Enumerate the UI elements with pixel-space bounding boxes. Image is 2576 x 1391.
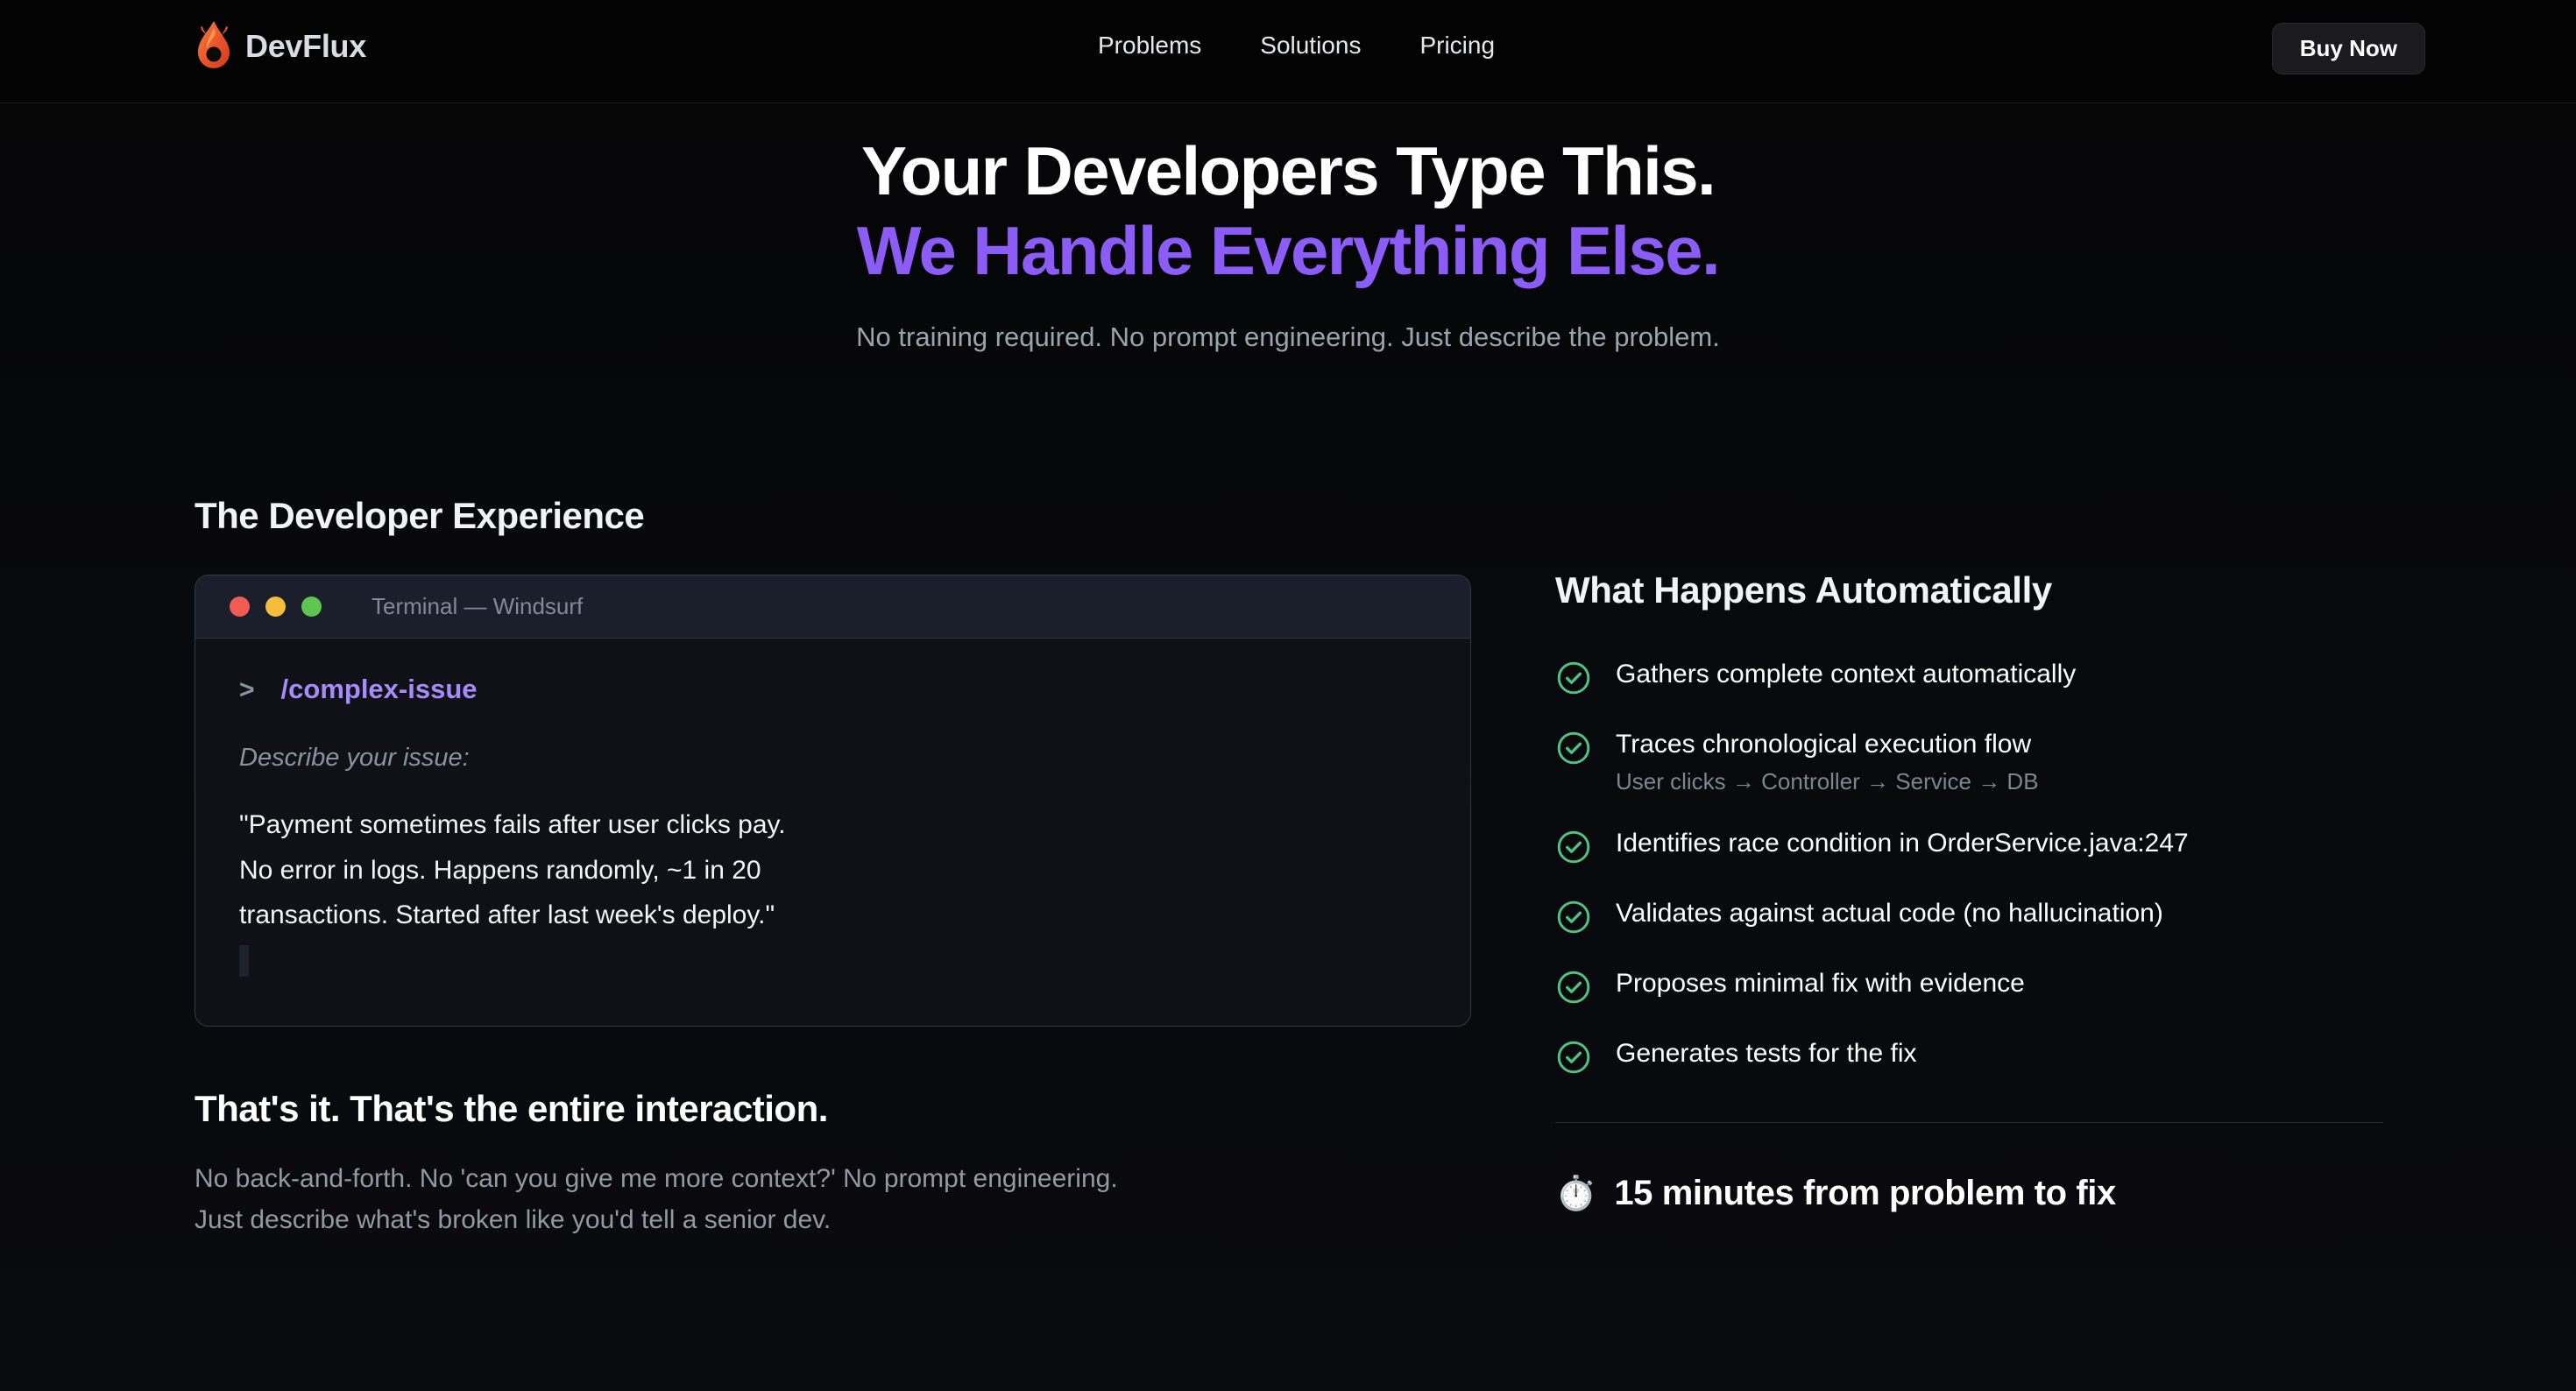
hero-subtitle: No training required. No prompt engineer… bbox=[0, 321, 2576, 353]
terminal-cursor bbox=[239, 945, 249, 977]
list-item: Generates tests for the fix bbox=[1555, 1037, 2388, 1076]
terminal-titlebar: Terminal — Windsurf bbox=[195, 575, 1470, 639]
terminal-window: Terminal — Windsurf > /complex-issue Des… bbox=[195, 575, 1471, 1027]
nav-links: Problems Solutions Pricing bbox=[1098, 32, 1495, 60]
interaction-heading: That's it. That's the entire interaction… bbox=[195, 1088, 1474, 1130]
nav-link-pricing[interactable]: Pricing bbox=[1419, 32, 1495, 60]
close-dot-icon[interactable] bbox=[230, 597, 250, 617]
hero-headline-line1: Your Developers Type This. bbox=[0, 131, 2576, 211]
brand-logo[interactable]: DevFlux bbox=[191, 19, 366, 74]
list-item: Gathers complete context automatically bbox=[1555, 658, 2388, 696]
developer-experience-column: The Developer Experience Terminal — Wind… bbox=[195, 495, 1474, 1241]
hero-headline-line2: We Handle Everything Else. bbox=[0, 211, 2576, 291]
terminal-command: /complex-issue bbox=[281, 674, 478, 705]
list-item-label: Generates tests for the fix bbox=[1616, 1037, 1917, 1070]
circle-check-icon bbox=[1555, 969, 1592, 1006]
automatic-actions-title: What Happens Automatically bbox=[1555, 569, 2388, 611]
brand-name: DevFlux bbox=[245, 28, 366, 65]
prompt-caret-icon: > bbox=[239, 675, 255, 705]
list-item: Proposes minimal fix with evidence bbox=[1555, 967, 2388, 1006]
time-to-fix-label: 15 minutes from problem to fix bbox=[1614, 1174, 2116, 1213]
terminal-user-input: "Payment sometimes fails after user clic… bbox=[239, 802, 1426, 938]
nav-link-problems[interactable]: Problems bbox=[1098, 32, 1201, 60]
list-item: Traces chronological execution flow User… bbox=[1555, 728, 2388, 795]
list-item-label: Proposes minimal fix with evidence bbox=[1616, 967, 2025, 1000]
stopwatch-icon: ⏱️ bbox=[1555, 1177, 1596, 1211]
circle-check-icon bbox=[1555, 730, 1592, 766]
terminal-window-title: Terminal — Windsurf bbox=[372, 593, 583, 620]
list-item-sublabel: User clicks → Controller → Service → DB bbox=[1616, 768, 2039, 795]
terminal-describe-label: Describe your issue: bbox=[239, 744, 1426, 773]
list-item-label: Identifies race condition in OrderServic… bbox=[1616, 827, 2189, 860]
nav-link-solutions[interactable]: Solutions bbox=[1260, 32, 1361, 60]
maximize-dot-icon[interactable] bbox=[301, 597, 322, 617]
section-title: The Developer Experience bbox=[195, 495, 1474, 537]
circle-check-icon bbox=[1555, 1039, 1592, 1076]
automatic-actions-list: Gathers complete context automatically T… bbox=[1555, 658, 2388, 1076]
window-control-dots bbox=[230, 597, 322, 617]
landing-page: DevFlux Problems Solutions Pricing Buy N… bbox=[0, 0, 2576, 1391]
circle-check-icon bbox=[1555, 829, 1592, 865]
terminal-prompt-row: > /complex-issue bbox=[239, 674, 1426, 705]
circle-check-icon bbox=[1555, 660, 1592, 696]
list-item: Identifies race condition in OrderServic… bbox=[1555, 827, 2388, 865]
interaction-paragraph: No back-and-forth. No 'can you give me m… bbox=[195, 1158, 1167, 1241]
list-item: Validates against actual code (no halluc… bbox=[1555, 897, 2388, 936]
hero-section: Your Developers Type This. We Handle Eve… bbox=[0, 131, 2576, 353]
list-item-label: Validates against actual code (no halluc… bbox=[1616, 897, 2163, 930]
terminal-body[interactable]: > /complex-issue Describe your issue: "P… bbox=[195, 639, 1470, 1026]
flame-icon bbox=[191, 19, 237, 74]
circle-check-icon bbox=[1555, 899, 1592, 936]
automatic-actions-column: What Happens Automatically Gathers compl… bbox=[1555, 569, 2388, 1213]
minimize-dot-icon[interactable] bbox=[265, 597, 286, 617]
buy-now-button[interactable]: Buy Now bbox=[2272, 23, 2425, 74]
list-item-label: Traces chronological execution flow bbox=[1616, 728, 2039, 761]
list-item-label: Gathers complete context automatically bbox=[1616, 658, 2076, 691]
section-divider bbox=[1555, 1122, 2383, 1123]
time-to-fix-row: ⏱️ 15 minutes from problem to fix bbox=[1555, 1174, 2388, 1213]
top-navigation-bar: DevFlux Problems Solutions Pricing Buy N… bbox=[0, 0, 2576, 103]
